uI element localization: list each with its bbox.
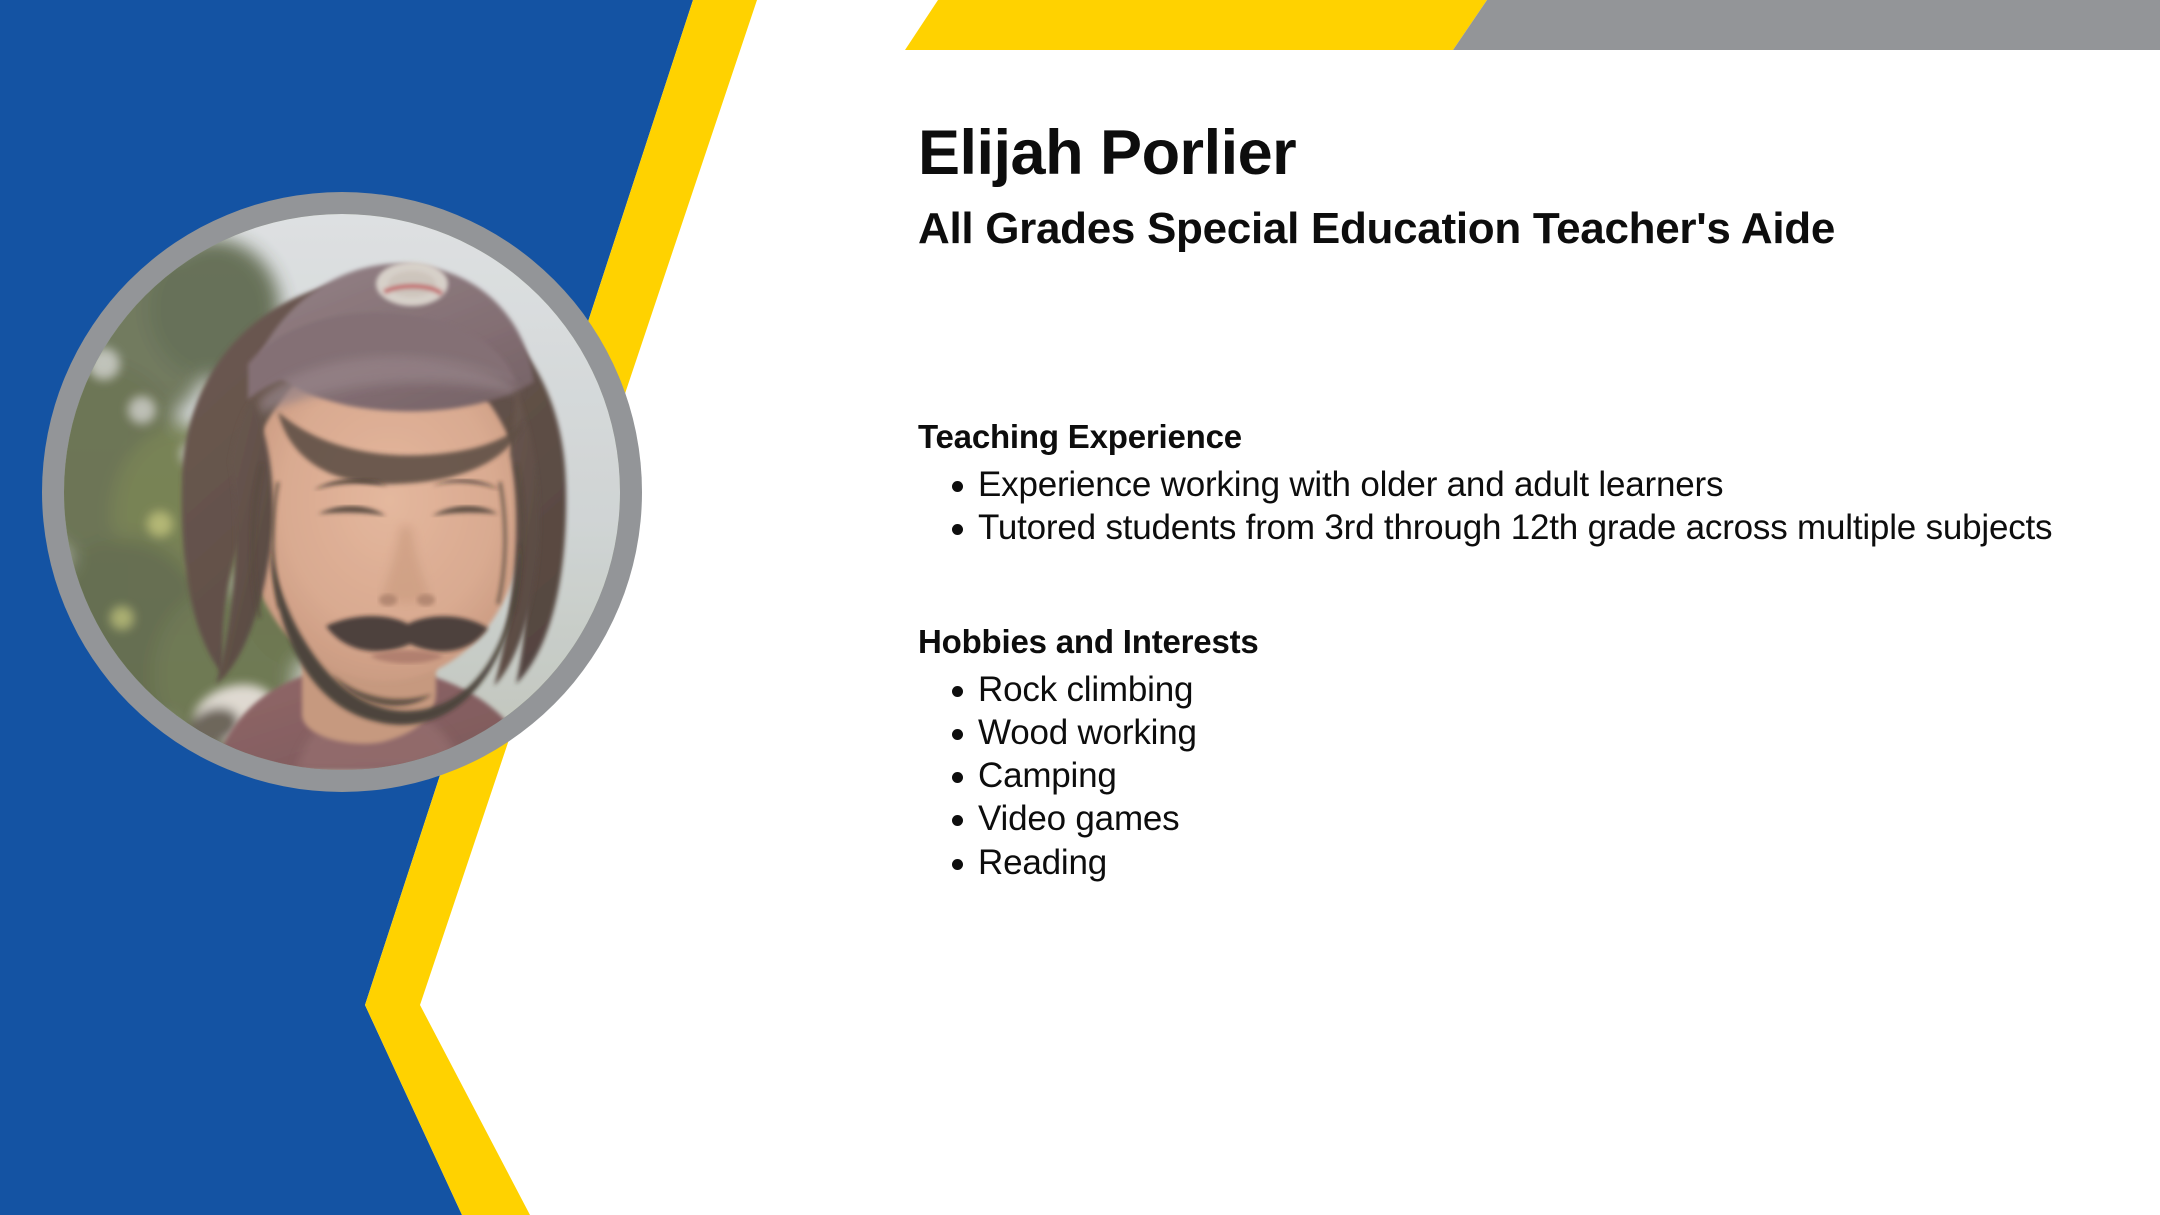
avatar bbox=[42, 192, 642, 792]
list-item: Experience working with older and adult … bbox=[918, 464, 2068, 505]
teaching-experience-list: Experience working with older and adult … bbox=[918, 464, 2068, 548]
bullet-icon bbox=[952, 729, 963, 740]
section-heading: Teaching Experience bbox=[918, 420, 2068, 453]
bullet-icon bbox=[952, 524, 963, 535]
list-item-label: Video games bbox=[978, 799, 1179, 838]
avatar-image-clip bbox=[64, 214, 620, 770]
list-item: Wood working bbox=[918, 712, 2068, 753]
bullet-icon bbox=[952, 481, 963, 492]
bullet-icon bbox=[952, 815, 963, 826]
bullet-icon bbox=[952, 686, 963, 697]
list-item: Reading bbox=[918, 842, 2068, 883]
list-item-label: Tutored students from 3rd through 12th g… bbox=[978, 508, 2052, 547]
content-column: Elijah Porlier All Grades Special Educat… bbox=[918, 0, 2098, 1215]
list-item-label: Camping bbox=[978, 756, 1117, 795]
list-item-label: Wood working bbox=[978, 713, 1197, 752]
list-item-label: Reading bbox=[978, 843, 1107, 882]
slide-canvas: Elijah Porlier All Grades Special Educat… bbox=[0, 0, 2160, 1215]
hobbies-list: Rock climbing Wood working Camping Video… bbox=[918, 669, 2068, 883]
list-item: Tutored students from 3rd through 12th g… bbox=[918, 507, 2068, 548]
list-item: Camping bbox=[918, 755, 2068, 796]
bullet-icon bbox=[952, 859, 963, 870]
job-title: All Grades Special Education Teacher's A… bbox=[918, 207, 1835, 251]
section-teaching-experience: Teaching Experience Experience working w… bbox=[918, 420, 2068, 550]
portrait-photo bbox=[64, 214, 620, 770]
section-hobbies-and-interests: Hobbies and Interests Rock climbing Wood… bbox=[918, 625, 2068, 885]
bullet-icon bbox=[952, 772, 963, 783]
list-item: Video games bbox=[918, 798, 2068, 839]
page-title: Elijah Porlier bbox=[918, 122, 1296, 185]
section-heading: Hobbies and Interests bbox=[918, 625, 2068, 658]
list-item-label: Experience working with older and adult … bbox=[978, 465, 1723, 504]
list-item: Rock climbing bbox=[918, 669, 2068, 710]
list-item-label: Rock climbing bbox=[978, 670, 1193, 709]
